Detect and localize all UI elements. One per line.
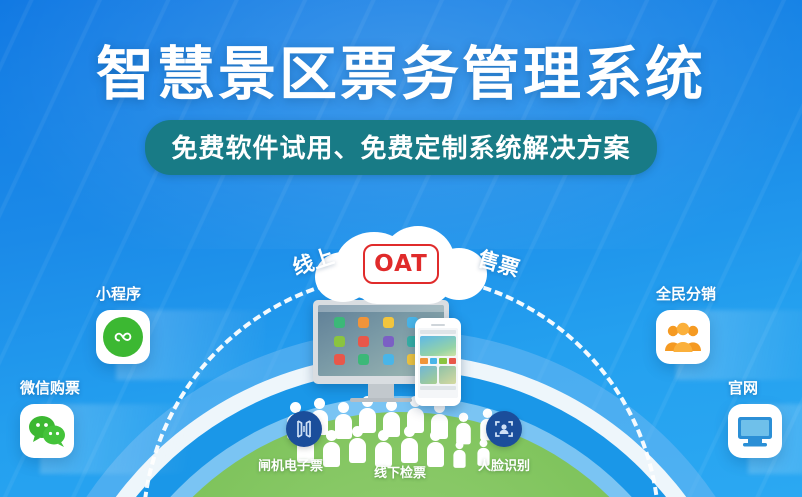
subtitle-row: 免费软件试用、免费定制系统解决方案 [0,120,802,175]
group-people-icon [664,321,702,353]
oat-logo-badge: OAT [363,244,439,284]
crowd-person [323,430,340,467]
page-title: 智慧景区票务管理系统 [0,44,802,104]
smartphone-app-mockup [415,318,461,406]
desktop-app-icon [383,336,394,347]
phone-bottombar [420,386,456,390]
desktop-app-icon [358,336,369,347]
desktop-app-icon [358,317,369,328]
node-mini-program[interactable]: 小程序 [96,283,150,364]
desktop-app-icon [358,354,369,365]
node-card[interactable] [728,404,782,458]
phone-thumb [439,366,456,384]
face-scan-icon[interactable] [486,411,522,447]
oat-logo-text: OAT [374,253,428,276]
node-label: 微信购票 [20,377,80,398]
node-label: 官网 [728,377,782,398]
imac-stand [368,384,394,398]
phone-thumb [420,366,437,384]
desktop-app-icon [334,354,345,365]
node-distribution[interactable]: 全民分销 [656,283,716,364]
subtitle-pill: 免费软件试用、免费定制系统解决方案 [145,120,656,175]
promo-banner: 智慧景区票务管理系统 免费软件试用、免费定制系统解决方案 [0,0,802,497]
desktop-app-icon [383,354,394,365]
crowd-person [427,430,444,467]
node-official-site[interactable]: 官网 [728,377,782,458]
crowd-person [349,426,366,463]
crowd-person [453,441,465,468]
banner-header: 智慧景区票务管理系统 免费软件试用、免费定制系统解决方案 [0,0,802,175]
bottom-label-face-recognition: 人脸识别 [478,455,530,474]
crowd-person [401,426,418,463]
node-card[interactable] [656,310,710,364]
phone-chip-row [420,358,456,364]
node-wechat-ticket[interactable]: 微信购票 [20,377,80,458]
bottom-label-offline-check: 线下检票 [374,462,426,481]
node-card[interactable] [96,310,150,364]
crowd-person [456,413,471,445]
phone-chip [420,358,428,364]
phone-chip [439,358,447,364]
desktop-app-icon [383,317,394,328]
imac-base [350,398,412,402]
wechat-miniprogram-icon [103,317,143,357]
node-card[interactable] [20,404,74,458]
node-label: 小程序 [96,283,150,304]
phone-chip [430,358,438,364]
device-mockups [313,300,493,410]
phone-chip [449,358,457,364]
node-label: 全民分销 [656,283,716,304]
turnstile-gate-icon[interactable] [286,411,322,447]
bottom-label-gate-eticket: 闸机电子票 [258,455,323,474]
phone-hero-image [420,336,456,356]
desktop-app-icon [334,317,345,328]
desktop-app-icon [334,336,345,347]
wechat-icon [27,414,67,448]
phone-thumb-row [420,366,456,384]
phone-speaker [431,324,445,326]
monitor-icon [736,414,774,448]
phone-topbar [420,330,456,334]
phone-screen [418,328,458,398]
